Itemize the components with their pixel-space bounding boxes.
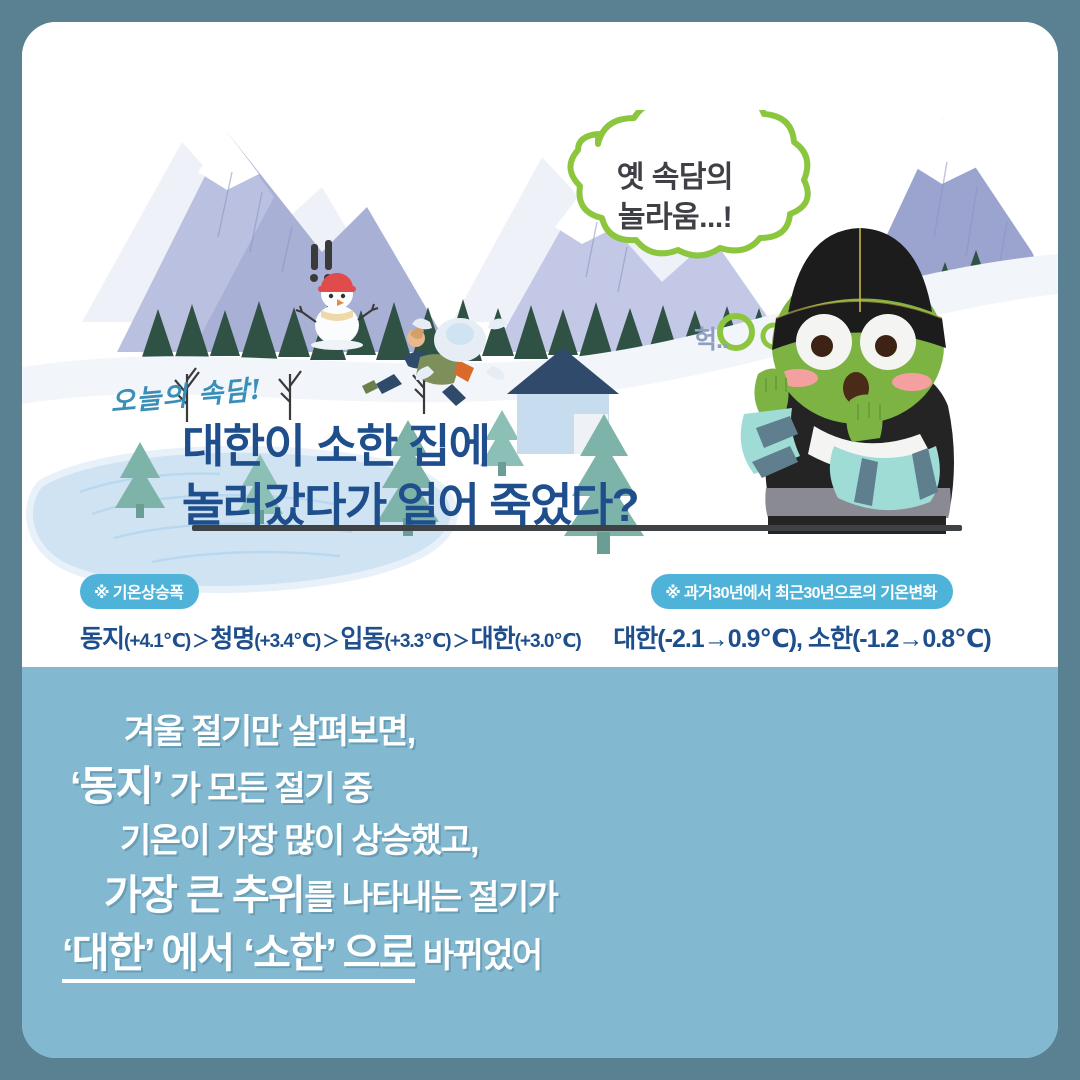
stat-value: (+3.3℃)	[384, 631, 450, 652]
badge-temperature-rise: ※ 기온상승폭	[80, 574, 199, 609]
frog-mascot-icon	[722, 212, 992, 542]
stat-term: 입동	[340, 625, 384, 653]
summary-emphasis-dongji: ‘동지’	[70, 763, 162, 809]
headline-divider	[192, 525, 962, 531]
summary-emphasis-switch: ‘대한’ 에서 ‘소한’ 으로	[62, 930, 415, 983]
stat-line-temperature-change: 대한(-2.1→0.9℃), 소한(-1.2→0.8℃)	[592, 619, 1012, 655]
summary-line-4-rest: 를 나타내는 절기가	[304, 879, 557, 917]
summary-emphasis-coldest: 가장 큰 추위	[104, 872, 304, 918]
stat-line-temperature-rise: 동지(+4.1℃)＞청명(+3.4℃)＞입동(+3.3℃)＞대한(+3.0℃)	[80, 619, 581, 655]
stat-separator: ＞	[320, 632, 340, 651]
stat-term: 청명	[210, 625, 254, 653]
stat-separator: ＞	[190, 632, 210, 651]
stat-value: (+4.1℃)	[124, 631, 190, 652]
summary-line-3: 기온이 가장 많이 상승했고,	[62, 824, 702, 858]
stat-block-temperature-rise: ※ 기온상승폭 동지(+4.1℃)＞청명(+3.4℃)＞입동(+3.3℃)＞대한…	[80, 574, 581, 655]
badge-temperature-change: ※ 과거30년에서 최근30년으로의 기온변화	[651, 574, 953, 609]
stat-term: 대한	[471, 625, 515, 653]
infographic-card-stage: 옛 속담의 놀라움...! 헉..	[0, 0, 1080, 1080]
summary-line-2-rest: 가 모든 절기 중	[162, 770, 371, 808]
stat-separator: ＞	[451, 632, 471, 651]
summary-line-5-rest: 바뀌었어	[415, 937, 542, 975]
summary-line-1: 겨울 절기만 살펴보면,	[62, 715, 702, 749]
summary-line-4: 가장 큰 추위를 나타내는 절기가	[62, 875, 702, 916]
summary-text: 겨울 절기만 살펴보면, ‘동지’ 가 모든 절기 중 기온이 가장 많이 상승…	[62, 715, 702, 991]
page-title: 대한이 소한 집에 놀러갔다가 얼어 죽었다?	[182, 417, 638, 535]
bubble-line-1: 옛 속담의	[520, 158, 830, 198]
summary-line-2: ‘동지’ 가 모든 절기 중	[62, 766, 702, 807]
stat-value: (+3.0℃)	[515, 631, 581, 652]
stat-block-temperature-change: ※ 과거30년에서 최근30년으로의 기온변화 대한(-2.1→0.9℃), 소…	[592, 574, 1012, 655]
summary-panel: 겨울 절기만 살펴보면, ‘동지’ 가 모든 절기 중 기온이 가장 많이 상승…	[22, 667, 1058, 1058]
stats-row: ※ 기온상승폭 동지(+4.1℃)＞청명(+3.4℃)＞입동(+3.3℃)＞대한…	[22, 574, 1058, 664]
white-card: 옛 속담의 놀라움...! 헉..	[22, 22, 1058, 1058]
stat-value: (+3.4℃)	[254, 631, 320, 652]
stat-term: 동지	[80, 625, 124, 653]
summary-line-5: ‘대한’ 에서 ‘소한’ 으로 바뀌었어	[62, 933, 702, 974]
